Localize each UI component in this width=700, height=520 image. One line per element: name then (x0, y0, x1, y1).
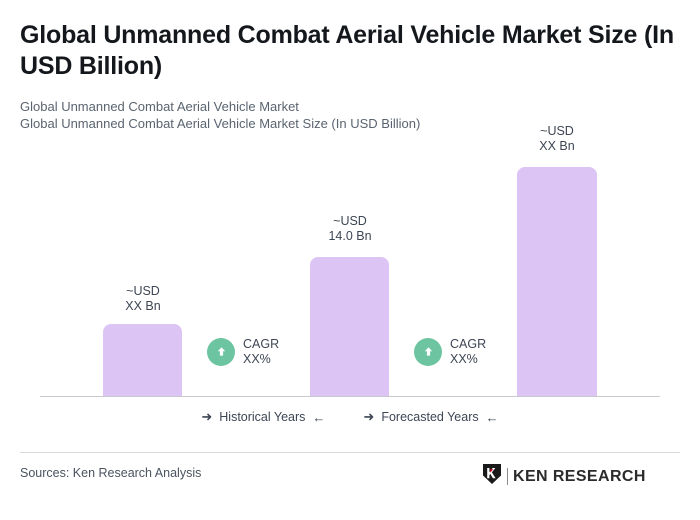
bar-1[interactable] (103, 324, 182, 396)
cagr-value-1: XX% (243, 352, 271, 366)
arrow-right-icon: ➜ (201, 409, 212, 425)
bar-value-label-2: ~USD 14.0 Bn (310, 214, 390, 243)
logo-divider (507, 468, 508, 485)
cagr-badge-1[interactable]: CAGRXX% (207, 337, 279, 366)
cagr-title-2: CAGR (450, 337, 486, 351)
sources-text: Sources: Ken Research Analysis (20, 466, 201, 480)
logo-wordmark: KEN RESEARCH (513, 468, 646, 486)
bar-value-label-1: ~USD XX Bn (103, 284, 183, 313)
bar-value-label-3: ~USD XX Bn (517, 124, 597, 153)
bar-3[interactable] (517, 167, 597, 396)
chart-baseline (40, 396, 660, 397)
arrow-right-icon: ➜ (363, 409, 374, 425)
period-forecasted-label: Forecasted Years (381, 410, 478, 424)
cagr-label-1: CAGRXX% (243, 337, 279, 366)
chart-page: Global Unmanned Combat Aerial Vehicle Ma… (0, 0, 700, 520)
period-legend: ➜ Historical Years ← ➜ Forecasted Years … (0, 409, 700, 425)
period-forecasted: ➜ Forecasted Years ← (363, 409, 498, 425)
arrow-up-icon (414, 338, 442, 366)
cagr-title-1: CAGR (243, 337, 279, 351)
arrow-up-icon (207, 338, 235, 366)
cagr-badge-2[interactable]: CAGRXX% (414, 337, 486, 366)
chart-plot-area: ~USD XX Bn CAGRXX% ~USD 14.0 Bn CAGRXX% (0, 0, 700, 400)
cagr-value-2: XX% (450, 352, 478, 366)
period-historical: ➜ Historical Years ← (201, 409, 325, 425)
cagr-label-2: CAGRXX% (450, 337, 486, 366)
period-historical-label: Historical Years (219, 410, 305, 424)
ken-research-logo: KEN RESEARCH (482, 463, 646, 490)
footer-divider (20, 452, 680, 453)
arrow-left-icon: ← (312, 410, 325, 425)
ken-research-shield-icon (482, 463, 502, 490)
bar-2[interactable] (310, 257, 389, 396)
arrow-left-icon: ← (486, 410, 499, 425)
